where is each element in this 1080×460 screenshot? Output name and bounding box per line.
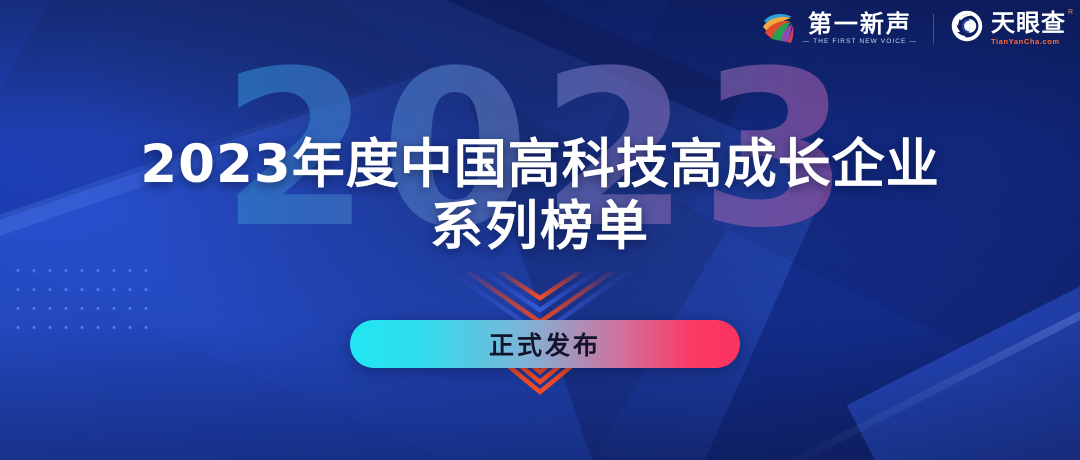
logo-tianyancha-text: 天眼查 TianYanCha.com R (991, 11, 1066, 46)
logo-tianyancha[interactable]: 天眼查 TianYanCha.com R (950, 9, 1066, 48)
registered-trademark-icon: R (1068, 9, 1073, 16)
logo-tianyancha-name: 天眼查 (991, 11, 1066, 35)
chevron-stack-top-icon (430, 272, 650, 324)
logo-diyixinsheng[interactable]: 第一新声 — THE FIRST NEW VOICE — (760, 8, 917, 49)
page-title: 2023年度中国高科技高成长企业 系列榜单 (0, 134, 1080, 258)
dot-grid-decoration (8, 258, 156, 334)
logo-diyixinsheng-tagline: — THE FIRST NEW VOICE — (803, 39, 917, 46)
title-line-2: 系列榜单 (0, 196, 1080, 258)
title-line-1: 2023年度中国高科技高成长企业 (0, 134, 1080, 196)
publish-cta-button[interactable]: 正式发布 (350, 320, 740, 368)
poster-canvas: 2023 2023 (0, 0, 1080, 460)
eye-aperture-logo-icon (950, 9, 984, 48)
logo-diyixinsheng-text: 第一新声 — THE FIRST NEW VOICE — (803, 12, 917, 46)
publish-cta-label: 正式发布 (489, 326, 601, 362)
header-logo-bar: 第一新声 — THE FIRST NEW VOICE — (760, 8, 1066, 49)
swoosh-logo-icon (760, 8, 796, 49)
logo-diyixinsheng-name: 第一新声 (808, 12, 912, 36)
logo-divider (933, 14, 934, 44)
logo-tianyancha-tagline: TianYanCha.com (991, 38, 1060, 46)
